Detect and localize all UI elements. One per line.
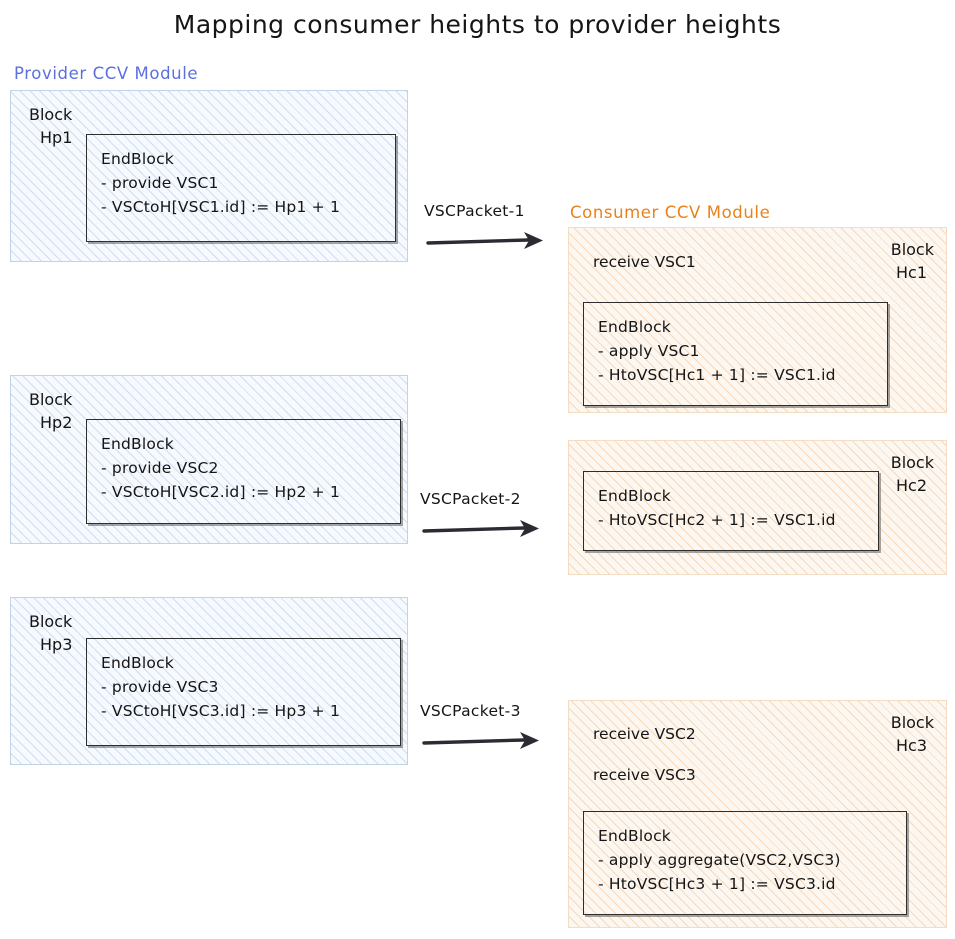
consumer-block-1-code-card: EndBlock - apply VSC1 - HtoVSC[Hc1 + 1] … xyxy=(583,302,888,406)
provider-block-3-caption-line1: Block xyxy=(29,612,72,631)
provider-block-1-code-card: EndBlock - provide VSC1 - VSCtoH[VSC1.id… xyxy=(86,134,396,242)
consumer-block-1-caption-line2: Hc1 xyxy=(891,261,934,284)
provider-block-3-caption: Block Hp3 xyxy=(29,610,72,656)
code-line: EndBlock xyxy=(598,484,864,508)
consumer-block-3-caption-line2: Hc3 xyxy=(891,734,934,757)
arrow-right-icon xyxy=(420,514,550,544)
code-line: EndBlock xyxy=(101,147,381,171)
code-line: EndBlock xyxy=(598,824,892,848)
consumer-block-3-receive-2: receive VSC3 xyxy=(593,764,696,786)
consumer-block-1-caption-line1: Block xyxy=(891,240,934,259)
vscpacket-1-label: VSCPacket-1 xyxy=(424,202,525,220)
provider-block-3-caption-line2: Hp3 xyxy=(29,633,72,656)
code-line: - HtoVSC[Hc1 + 1] := VSC1.id xyxy=(598,363,873,387)
provider-block-2-caption-line1: Block xyxy=(29,390,72,409)
consumer-block-3-caption-line1: Block xyxy=(891,713,934,732)
provider-block-3: Block Hp3 EndBlock - provide VSC3 - VSCt… xyxy=(10,597,408,765)
consumer-block-3: Block Hc3 receive VSC2 receive VSC3 EndB… xyxy=(568,700,947,928)
provider-module-label: Provider CCV Module xyxy=(14,64,198,83)
code-line: - apply VSC1 xyxy=(598,339,873,363)
code-line: - HtoVSC[Hc3 + 1] := VSC3.id xyxy=(598,872,892,896)
provider-block-1-caption-line1: Block xyxy=(29,105,72,124)
code-line: EndBlock xyxy=(598,315,873,339)
provider-block-1: Block Hp1 EndBlock - provide VSC1 - VSCt… xyxy=(10,90,408,262)
provider-block-2-caption: Block Hp2 xyxy=(29,388,72,434)
page-title: Mapping consumer heights to provider hei… xyxy=(0,10,955,39)
arrow-right-icon xyxy=(424,226,554,256)
provider-block-1-caption-line2: Hp1 xyxy=(29,126,72,149)
code-line: EndBlock xyxy=(101,651,386,675)
consumer-block-2-code-card: EndBlock - HtoVSC[Hc2 + 1] := VSC1.id xyxy=(583,471,879,551)
code-line: - apply aggregate(VSC2,VSC3) xyxy=(598,848,892,872)
vscpacket-3-label: VSCPacket-3 xyxy=(420,702,521,720)
code-line: - provide VSC1 xyxy=(101,171,381,195)
provider-block-2-caption-line2: Hp2 xyxy=(29,411,72,434)
consumer-block-2-caption-line1: Block xyxy=(891,453,934,472)
provider-block-2-code-card: EndBlock - provide VSC2 - VSCtoH[VSC2.id… xyxy=(86,419,401,524)
code-line: - VSCtoH[VSC3.id] := Hp3 + 1 xyxy=(101,699,386,723)
consumer-block-2: Block Hc2 EndBlock - HtoVSC[Hc2 + 1] := … xyxy=(568,440,947,575)
consumer-block-2-caption-line2: Hc2 xyxy=(891,474,934,497)
code-line: - HtoVSC[Hc2 + 1] := VSC1.id xyxy=(598,508,864,532)
code-line: - provide VSC2 xyxy=(101,456,386,480)
provider-block-1-caption: Block Hp1 xyxy=(29,103,72,149)
consumer-block-3-code-card: EndBlock - apply aggregate(VSC2,VSC3) - … xyxy=(583,811,907,915)
consumer-module-label: Consumer CCV Module xyxy=(570,203,770,222)
code-line: - VSCtoH[VSC2.id] := Hp2 + 1 xyxy=(101,480,386,504)
consumer-block-2-caption: Block Hc2 xyxy=(891,451,934,497)
code-line: EndBlock xyxy=(101,432,386,456)
provider-block-2: Block Hp2 EndBlock - provide VSC2 - VSCt… xyxy=(10,375,408,544)
consumer-block-1-caption: Block Hc1 xyxy=(891,238,934,284)
vscpacket-2-label: VSCPacket-2 xyxy=(420,490,521,508)
code-line: - provide VSC3 xyxy=(101,675,386,699)
consumer-block-3-receive-1: receive VSC2 xyxy=(593,723,696,745)
consumer-block-1-receive-1: receive VSC1 xyxy=(593,251,696,273)
consumer-block-1: Block Hc1 receive VSC1 EndBlock - apply … xyxy=(568,227,947,413)
consumer-block-3-caption: Block Hc3 xyxy=(891,711,934,757)
provider-block-3-code-card: EndBlock - provide VSC3 - VSCtoH[VSC3.id… xyxy=(86,638,401,746)
arrow-right-icon xyxy=(420,726,550,756)
code-line: - VSCtoH[VSC1.id] := Hp1 + 1 xyxy=(101,195,381,219)
